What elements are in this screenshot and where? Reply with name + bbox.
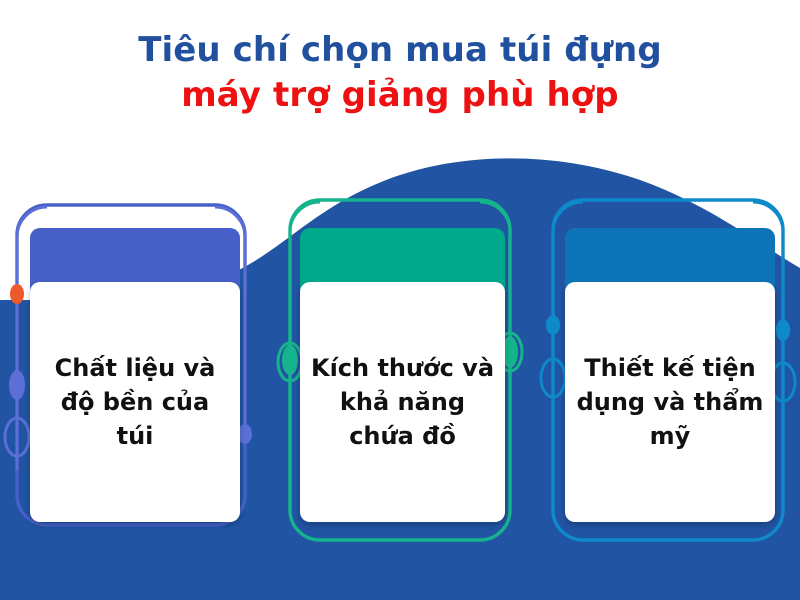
card-2-body: Kích thước và khả năng chứa đồ	[300, 282, 505, 522]
title-line-2: máy trợ giảng phù hợp	[0, 73, 800, 118]
card-design-aesthetics[interactable]: Thiết kế tiện dụng và thẩm mỹ	[550, 195, 790, 545]
card-material-durability[interactable]: Chất liệu và độ bền của túi	[0, 200, 260, 540]
card-1-label: Chất liệu và độ bền của túi	[40, 351, 230, 453]
card-2-label: Kích thước và khả năng chứa đồ	[310, 351, 495, 453]
card-1-body: Chất liệu và độ bền của túi	[30, 282, 240, 522]
card-3-body: Thiết kế tiện dụng và thẩm mỹ	[565, 282, 775, 522]
card-size-capacity[interactable]: Kích thước và khả năng chứa đồ	[285, 195, 520, 545]
page-title: Tiêu chí chọn mua túi đựng máy trợ giảng…	[0, 28, 800, 118]
infographic-canvas: Tiêu chí chọn mua túi đựng máy trợ giảng…	[0, 0, 800, 600]
title-line-1: Tiêu chí chọn mua túi đựng	[0, 28, 800, 73]
card-3-label: Thiết kế tiện dụng và thẩm mỹ	[575, 351, 765, 453]
